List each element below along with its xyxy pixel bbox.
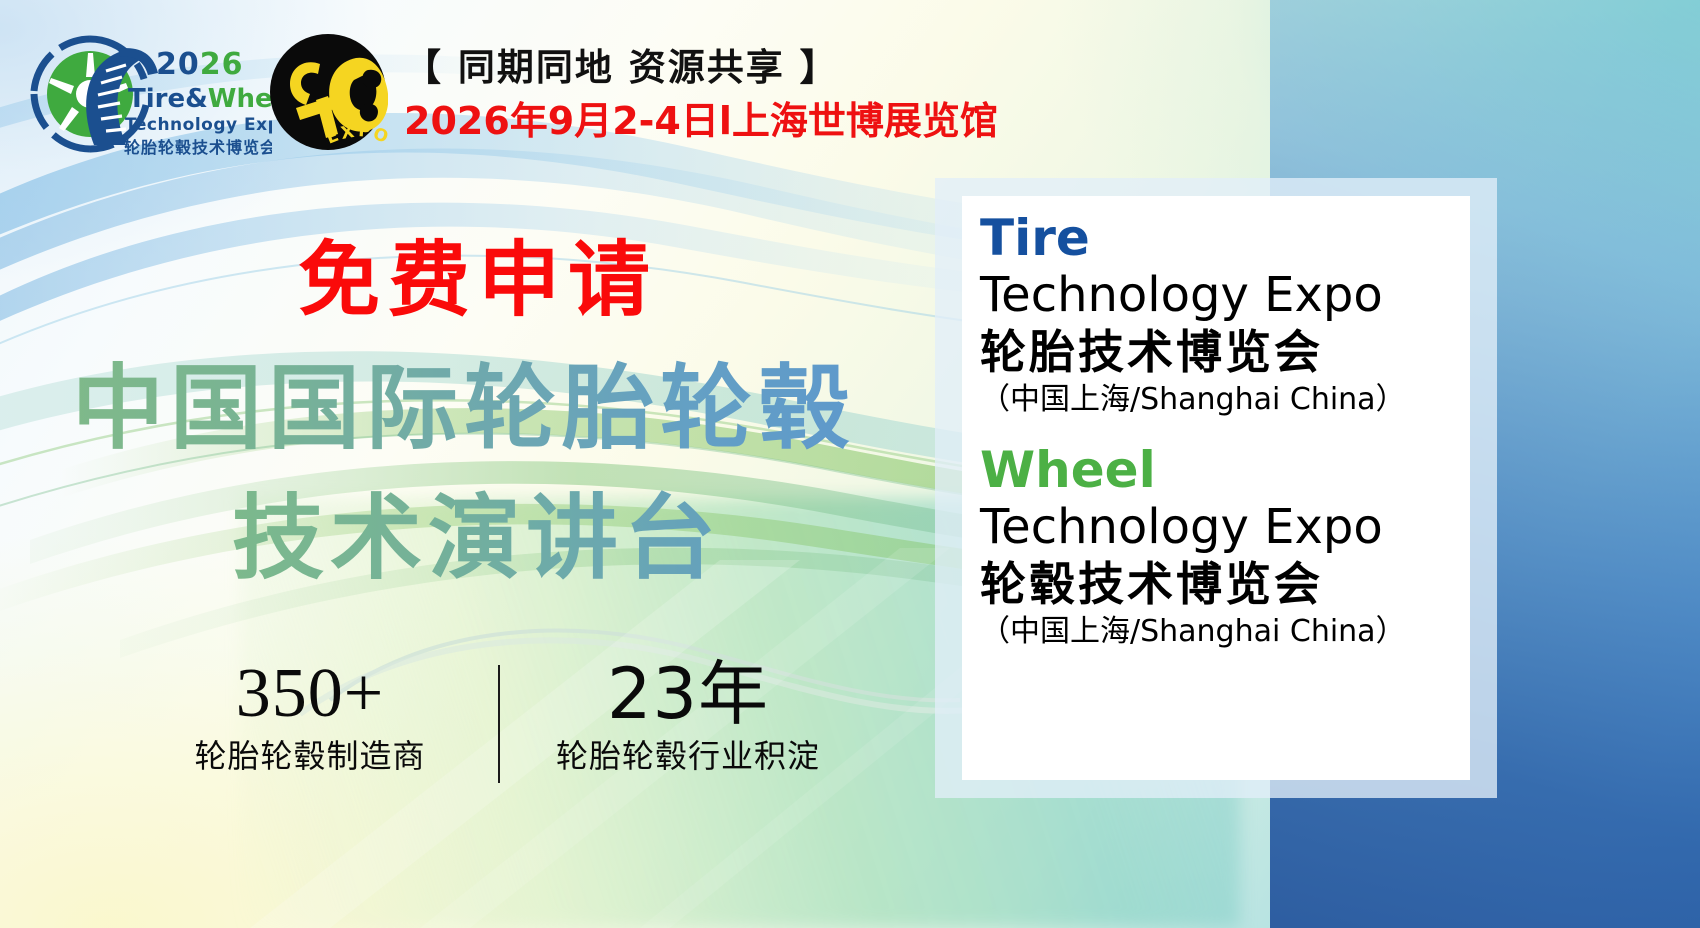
tire-expo-cn-label: 轮胎技术博览会	[980, 324, 1470, 380]
main-title: 中国国际轮胎轮毂 技术演讲台	[72, 352, 952, 596]
svg-text:P: P	[358, 121, 372, 142]
wheel-expo-location: （中国上海/Shanghai China）	[980, 612, 1470, 652]
stats-row: 350+ 轮胎轮毂制造商 23年 轮胎轮毂行业积淀	[150, 655, 870, 805]
free-apply-headline: 免费申请	[298, 236, 658, 326]
expo-banner: 2026 Tire&Wheel Technology Expo 轮胎轮毂技术博览…	[0, 0, 1700, 928]
svg-text:轮胎轮毂技术博览会: 轮胎轮毂技术博览会	[124, 138, 272, 157]
stat-label: 轮胎轮毂制造商	[150, 735, 470, 777]
wheel-technology-expo-label: Technology Expo	[980, 498, 1470, 556]
tire-technology-expo-label: Technology Expo	[980, 266, 1470, 324]
right-panel: Tire Technology Expo 轮胎技术博览会 （中国上海/Shang…	[962, 196, 1470, 780]
svg-text:2026: 2026	[156, 47, 244, 82]
stat-label: 轮胎轮毂行业积淀	[528, 735, 848, 777]
svg-text:Tire&Wheel: Tire&Wheel	[128, 84, 272, 114]
wheel-brand-label: Wheel	[980, 442, 1470, 498]
stat-item-years: 23年 轮胎轮毂行业积淀	[528, 655, 848, 777]
tire-wheel-logo-icon: 2026 Tire&Wheel Technology Expo 轮胎轮毂技术博览…	[22, 27, 272, 160]
main-title-line-2: 技术演讲台	[232, 482, 952, 596]
tire-expo-block: Tire Technology Expo 轮胎技术博览会 （中国上海/Shang…	[980, 210, 1470, 420]
stat-number: 350+	[150, 655, 470, 733]
banner-header: 2026 Tire&Wheel Technology Expo 轮胎轮毂技术博览…	[0, 0, 1700, 175]
tire-expo-location: （中国上海/Shanghai China）	[980, 380, 1470, 420]
panel-spacer	[980, 420, 1470, 442]
header-tagline: 【 同期同地 资源共享 】	[404, 44, 998, 92]
svg-text:Technology Expo: Technology Expo	[125, 115, 272, 135]
citexpo-logo-icon: E X P O	[268, 32, 388, 152]
tire-brand-label: Tire	[980, 210, 1470, 266]
header-date-venue: 2026年9月2-4日l上海世博展览馆	[404, 96, 998, 146]
stats-divider	[498, 665, 500, 783]
stat-item-exhibitors: 350+ 轮胎轮毂制造商	[150, 655, 470, 777]
main-title-line-1: 中国国际轮胎轮毂	[72, 352, 952, 466]
wheel-expo-block: Wheel Technology Expo 轮毂技术博览会 （中国上海/Shan…	[980, 442, 1470, 652]
stat-number: 23年	[528, 655, 848, 733]
wheel-expo-cn-label: 轮毂技术博览会	[980, 556, 1470, 612]
header-text-group: 【 同期同地 资源共享 】 2026年9月2-4日l上海世博展览馆	[404, 44, 998, 146]
